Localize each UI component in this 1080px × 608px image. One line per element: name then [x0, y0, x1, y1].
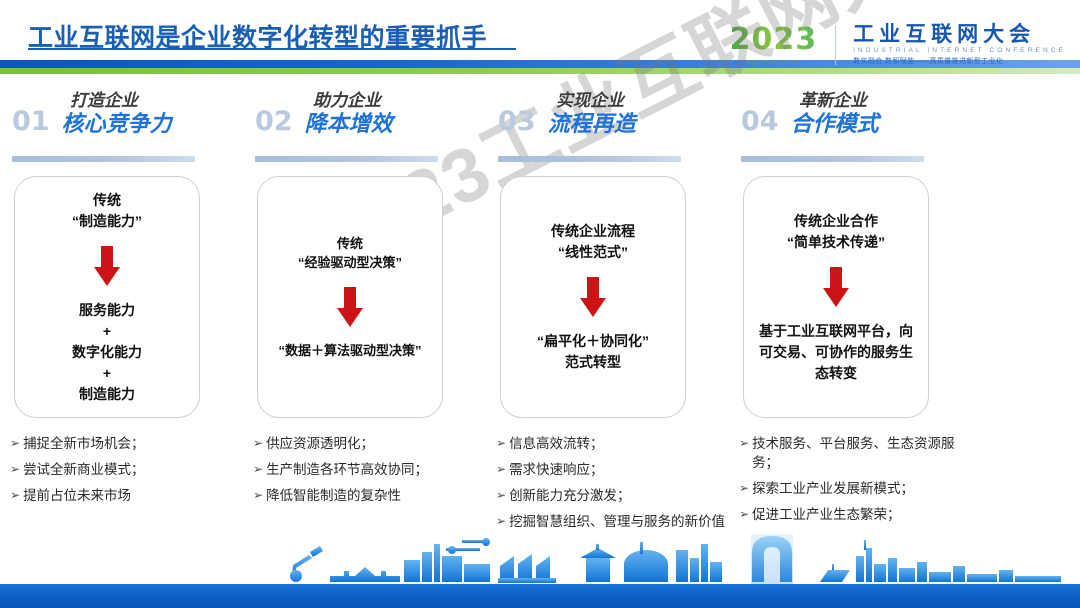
- column-02-card-to: “数据＋算法驱动型决策”: [278, 341, 421, 361]
- list-item-text: 捕捉全新市场机会；: [23, 434, 242, 453]
- list-item-text: 提前占位未来市场: [23, 486, 242, 505]
- list-item: ➢ 探索工业产业发展新模式；: [739, 479, 971, 498]
- list-item-text: 挖掘智慧组织、管理与服务的新价值: [509, 512, 728, 531]
- column-02-bullets: ➢ 供应资源透明化； ➢ 生产制造各环节高效协同； ➢ 降低智能制造的复杂性: [253, 434, 485, 505]
- bullet-arrow-icon: ➢: [739, 505, 749, 523]
- slide-root: 工业互联网是企业数字化转型的重要抓手 2023 中国·苏州 5月11日-13日 …: [0, 0, 1080, 608]
- list-item: ➢ 信息高效流转；: [496, 434, 728, 453]
- column-02-number-row: 02 降本增效: [255, 108, 393, 135]
- columns-container: 打造企业 01 核心竞争力 传统 “制造能力” 服务能力 + 数字化能力 + 制…: [0, 86, 1080, 539]
- column-02-card: 传统 “经验驱动型决策” “数据＋算法驱动型决策”: [257, 176, 443, 418]
- column-01-number: 01: [12, 108, 50, 135]
- list-item: ➢ 尝试全新商业模式；: [10, 460, 242, 479]
- column-04-underline: [741, 156, 924, 162]
- column-03: 实现企业 03 流程再造 传统企业流程 “线性范式” “扁平化＋协同化” 范式转…: [486, 86, 729, 539]
- column-01: 打造企业 01 核心竞争力 传统 “制造能力” 服务能力 + 数字化能力 + 制…: [0, 86, 243, 539]
- column-02-title: 降本增效: [305, 113, 393, 135]
- list-item-text: 尝试全新商业模式；: [23, 460, 242, 479]
- logo-name-block: 工业互联网大会 INDUSTRIAL INTERNET CONFERENCE 数…: [845, 24, 1066, 66]
- column-03-bullets: ➢ 信息高效流转； ➢ 需求快速响应； ➢ 创新能力充分激发； ➢ 挖掘智慧组织…: [496, 434, 728, 532]
- column-03-underline: [498, 156, 681, 162]
- down-arrow-icon: [580, 277, 606, 317]
- bullet-arrow-icon: ➢: [10, 434, 20, 452]
- column-01-bullets: ➢ 捕捉全新市场机会； ➢ 尝试全新商业模式； ➢ 提前占位未来市场: [10, 434, 242, 505]
- list-item: ➢ 供应资源透明化；: [253, 434, 485, 453]
- column-01-number-row: 01 核心竞争力: [12, 108, 172, 135]
- column-02-number: 02: [255, 108, 293, 135]
- column-03-header: 实现企业 03 流程再造: [486, 86, 729, 146]
- list-item: ➢ 促进工业产业生态繁荣；: [739, 505, 971, 524]
- list-item-text: 降低智能制造的复杂性: [266, 486, 485, 505]
- title-underline: [28, 48, 516, 50]
- bullet-arrow-icon: ➢: [496, 512, 506, 530]
- column-01-underline: [12, 156, 195, 162]
- column-04-number: 04: [741, 108, 779, 135]
- column-04-number-row: 04 合作模式: [741, 108, 879, 135]
- list-item: ➢ 降低智能制造的复杂性: [253, 486, 485, 505]
- bullet-arrow-icon: ➢: [253, 460, 263, 478]
- list-item-text: 信息高效流转；: [509, 434, 728, 453]
- list-item: ➢ 需求快速响应；: [496, 460, 728, 479]
- column-01-title: 核心竞争力: [62, 113, 172, 135]
- list-item-text: 探索工业产业发展新模式；: [752, 479, 971, 498]
- footer-band: [0, 584, 1080, 608]
- list-item: ➢ 技术服务、平台服务、生态资源服务；: [739, 434, 971, 472]
- bullet-arrow-icon: ➢: [739, 434, 749, 452]
- bullet-arrow-icon: ➢: [253, 486, 263, 504]
- column-04-card-inner: 传统企业合作 “简单技术传递” 基于工业互联网平台，向可交易、可协作的服务生态转…: [754, 211, 918, 384]
- logo-tagline: 数实融合 数智赋能——高质量推进新型工业化: [853, 56, 1066, 66]
- logo-place-date: 中国·苏州 5月11日-13日: [747, 59, 800, 66]
- column-04-title: 合作模式: [791, 113, 879, 135]
- column-04-card-to: 基于工业互联网平台，向可交易、可协作的服务生态转变: [754, 321, 918, 384]
- logo-separator: [835, 25, 836, 65]
- conference-logo: 2023 中国·苏州 5月11日-13日 工业互联网大会 INDUSTRIAL …: [730, 24, 1066, 66]
- logo-year: 2023: [730, 25, 818, 55]
- column-01-header: 打造企业 01 核心竞争力: [0, 86, 243, 146]
- down-arrow-icon: [94, 246, 120, 286]
- footer: [0, 538, 1080, 608]
- column-03-card: 传统企业流程 “线性范式” “扁平化＋协同化” 范式转型: [500, 176, 686, 418]
- column-02-underline: [255, 156, 438, 162]
- logo-name-cn: 工业互联网大会: [853, 24, 1066, 46]
- city-industry-skyline-icon: [0, 534, 1080, 586]
- list-item: ➢ 生产制造各环节高效协同；: [253, 460, 485, 479]
- list-item: ➢ 挖掘智慧组织、管理与服务的新价值: [496, 512, 728, 531]
- bullet-arrow-icon: ➢: [496, 486, 506, 504]
- column-04: 革新企业 04 合作模式 传统企业合作 “简单技术传递” 基于工业互联网平台，向…: [729, 86, 972, 539]
- column-01-card-to: 服务能力 + 数字化能力 + 制造能力: [72, 300, 142, 405]
- bullet-arrow-icon: ➢: [496, 460, 506, 478]
- bullet-arrow-icon: ➢: [739, 479, 749, 497]
- list-item-text: 促进工业产业生态繁荣；: [752, 505, 971, 524]
- bullet-arrow-icon: ➢: [253, 434, 263, 452]
- list-item-text: 供应资源透明化；: [266, 434, 485, 453]
- down-arrow-icon: [823, 267, 849, 307]
- list-item-text: 创新能力充分激发；: [509, 486, 728, 505]
- column-01-card: 传统 “制造能力” 服务能力 + 数字化能力 + 制造能力: [14, 176, 200, 418]
- column-01-card-from: 传统 “制造能力”: [72, 190, 142, 232]
- column-03-title: 流程再造: [548, 113, 636, 135]
- column-02-card-from: 传统 “经验驱动型决策”: [298, 234, 402, 273]
- list-item-text: 技术服务、平台服务、生态资源服务；: [752, 434, 971, 472]
- column-03-card-to: “扁平化＋协同化” 范式转型: [537, 331, 649, 373]
- bullet-arrow-icon: ➢: [10, 486, 20, 504]
- column-03-card-from: 传统企业流程 “线性范式”: [551, 221, 635, 263]
- bullet-arrow-icon: ➢: [10, 460, 20, 478]
- down-arrow-icon: [337, 287, 363, 327]
- list-item: ➢ 创新能力充分激发；: [496, 486, 728, 505]
- list-item-text: 需求快速响应；: [509, 460, 728, 479]
- bullet-arrow-icon: ➢: [496, 434, 506, 452]
- divider-green-bar: [0, 68, 1080, 74]
- column-02-header: 助力企业 02 降本增效: [243, 86, 486, 146]
- column-04-bullets: ➢ 技术服务、平台服务、生态资源服务； ➢ 探索工业产业发展新模式； ➢ 促进工…: [739, 434, 971, 525]
- column-02-card-inner: 传统 “经验驱动型决策” “数据＋算法驱动型决策”: [268, 234, 432, 361]
- column-03-number-row: 03 流程再造: [498, 108, 636, 135]
- column-04-card-from: 传统企业合作 “简单技术传递”: [787, 211, 885, 253]
- column-04-header: 革新企业 04 合作模式: [729, 86, 972, 146]
- column-02: 助力企业 02 降本增效 传统 “经验驱动型决策” “数据＋算法驱动型决策”: [243, 86, 486, 539]
- list-item: ➢ 提前占位未来市场: [10, 486, 242, 505]
- list-item: ➢ 捕捉全新市场机会；: [10, 434, 242, 453]
- logo-name-en: INDUSTRIAL INTERNET CONFERENCE: [853, 47, 1066, 54]
- column-03-number: 03: [498, 108, 536, 135]
- column-03-card-inner: 传统企业流程 “线性范式” “扁平化＋协同化” 范式转型: [511, 221, 675, 373]
- column-01-card-inner: 传统 “制造能力” 服务能力 + 数字化能力 + 制造能力: [25, 190, 189, 405]
- logo-year-block: 2023 中国·苏州 5月11日-13日: [730, 25, 827, 66]
- column-04-card: 传统企业合作 “简单技术传递” 基于工业互联网平台，向可交易、可协作的服务生态转…: [743, 176, 929, 418]
- list-item-text: 生产制造各环节高效协同；: [266, 460, 485, 479]
